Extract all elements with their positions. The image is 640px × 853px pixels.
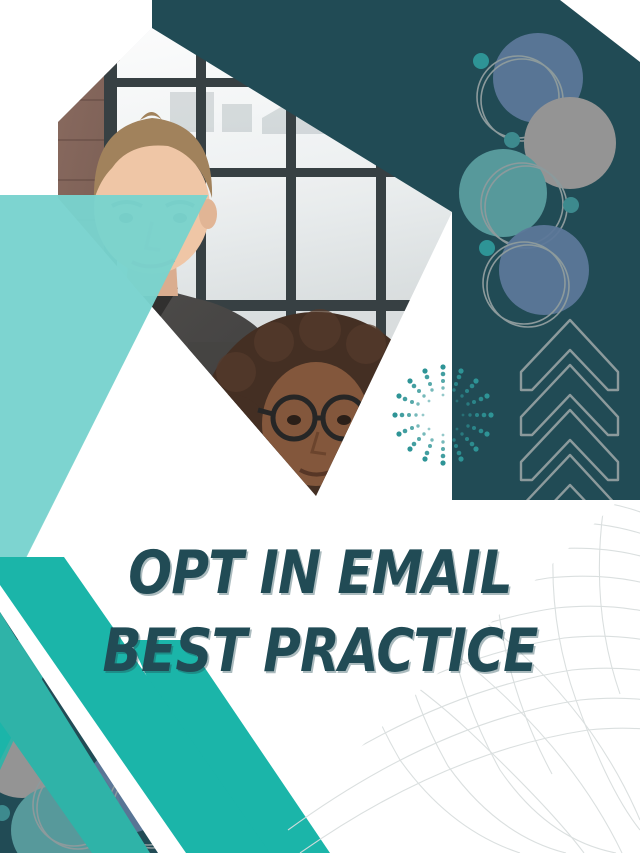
- wave-lines-layer: [0, 0, 640, 853]
- poster-canvas: OPT IN EMAIL BEST PRACTICE: [0, 0, 640, 853]
- faint-wave-lines: [250, 480, 640, 853]
